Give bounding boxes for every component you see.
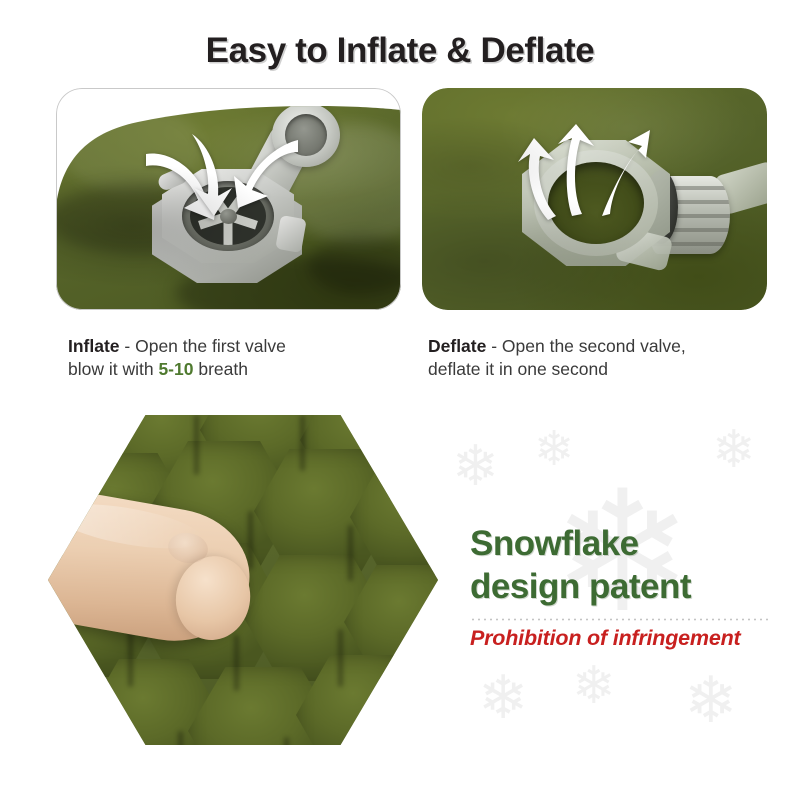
valve-ear <box>615 226 674 272</box>
valve-throat <box>182 181 274 251</box>
dotted-divider <box>470 618 770 621</box>
inflate-pad-photo <box>56 88 401 310</box>
inflate-caption-keyword: Inflate <box>68 336 120 356</box>
hexagon-photo <box>48 415 438 745</box>
snowflake-watermark-icon: ❄ <box>712 424 756 476</box>
deflate-panel <box>422 88 767 310</box>
valve-rim <box>162 169 294 263</box>
fabric-fold <box>176 256 401 310</box>
valve-hub <box>220 209 237 224</box>
valve-opening <box>548 162 644 244</box>
deflate-caption-line2: deflate it in one second <box>428 359 608 379</box>
valve-grille <box>190 187 266 245</box>
deflate-caption-keyword: Deflate <box>428 336 486 356</box>
inflate-panel <box>56 88 401 310</box>
valve-collar <box>522 140 670 266</box>
hexagon-clip <box>48 415 438 745</box>
fabric-fold <box>56 184 246 254</box>
page-title: Easy to Inflate & Deflate <box>0 31 800 71</box>
valve-lug <box>275 215 307 253</box>
snowflake-watermark-icon: ❄ <box>478 668 528 728</box>
patent-subtitle: Prohibition of infringement <box>470 626 770 651</box>
inflate-caption: Inflate - Open the first valve blow it w… <box>68 335 398 381</box>
inflate-caption-line2-after: breath <box>193 359 247 379</box>
snowflake-watermark-icon: ❄ <box>452 438 499 494</box>
air-outflow-arrow <box>590 128 654 220</box>
valve-inner-collar <box>534 150 658 256</box>
inflate-caption-line2-before: blow it with <box>68 359 158 379</box>
deflate-caption: Deflate - Open the second valve, deflate… <box>428 335 758 381</box>
second-valve <box>522 140 752 290</box>
fabric-fold <box>282 124 401 244</box>
deflate-caption-line1: - Open the second valve, <box>486 336 685 356</box>
deflate-pad-photo <box>422 88 767 310</box>
air-outflow-arrow <box>550 124 602 220</box>
valve-body <box>152 177 302 283</box>
inflate-caption-line1: - Open the first valve <box>120 336 286 356</box>
fabric-fold <box>62 104 202 194</box>
air-inflow-arrow <box>186 130 248 222</box>
air-inflow-arrow <box>140 144 226 230</box>
air-inflow-arrow <box>224 134 304 218</box>
patent-text-block: Snowflake design patent Prohibition of i… <box>470 522 770 651</box>
first-valve <box>144 133 334 293</box>
valve-cap-open <box>272 103 340 167</box>
snowflake-watermark-icon: ❄ <box>572 660 616 712</box>
fabric-fold <box>308 236 401 294</box>
valve-gasket <box>644 170 678 244</box>
valve-strap <box>233 122 315 224</box>
valve-tab <box>156 166 190 193</box>
air-outflow-arrow <box>514 136 576 224</box>
inflate-breath-count: 5-10 <box>158 359 193 379</box>
patent-title-line2: design patent <box>470 565 770 608</box>
valve-strap <box>714 161 767 216</box>
snowflake-watermark-icon: ❄ <box>684 668 738 732</box>
infographic-root: Easy to Inflate & Deflate <box>0 0 800 800</box>
valve-cap-threaded <box>648 176 730 254</box>
patent-title-line1: Snowflake <box>470 522 770 565</box>
